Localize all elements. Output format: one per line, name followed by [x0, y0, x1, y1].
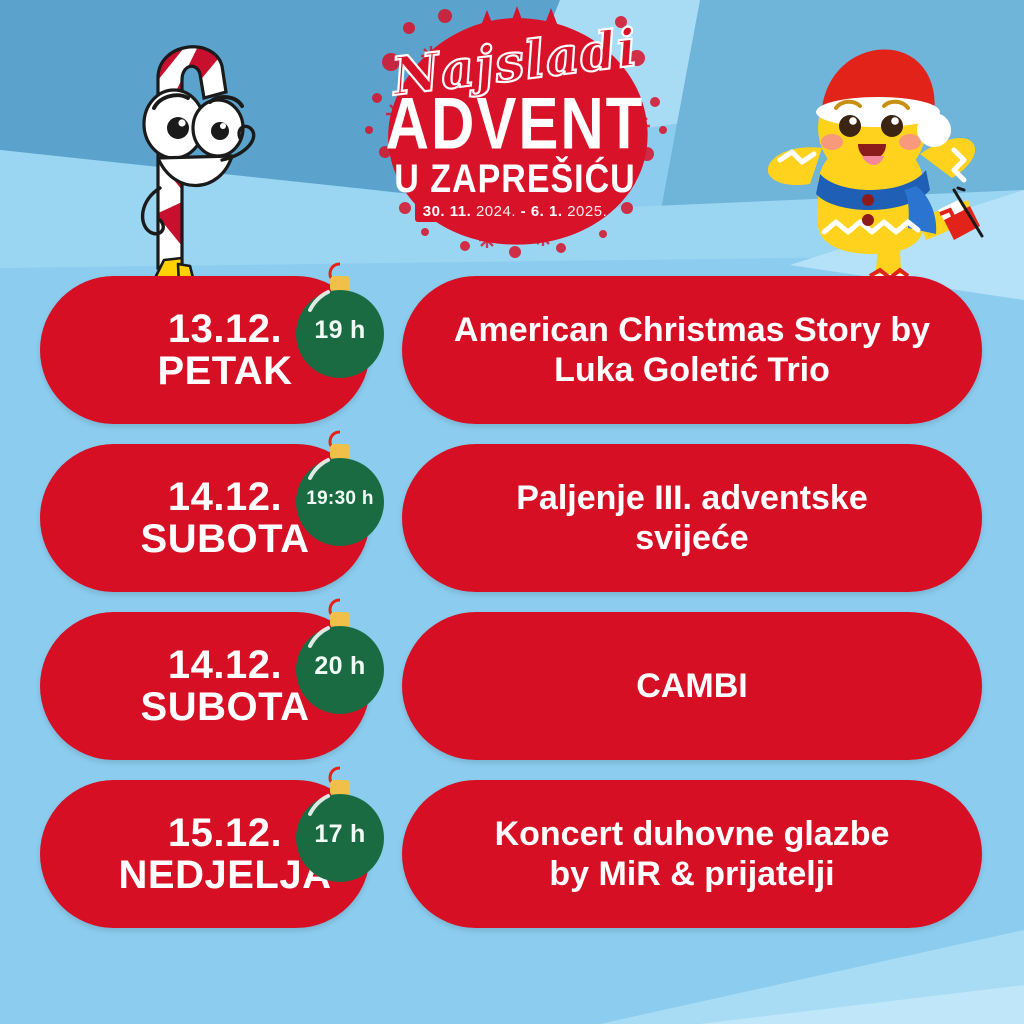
time-bauble[interactable]: 17 h [288, 762, 392, 886]
date-range-separator: - [521, 203, 527, 220]
date-range-start-year: 2024. [476, 203, 516, 220]
event-weekday: SUBOTA [141, 518, 310, 560]
schedule-row[interactable]: 13.12. PETAK 19 h American Christmas Sto… [0, 276, 1024, 444]
time-bauble[interactable]: 20 h [288, 594, 392, 718]
event-title-line2: by MiR & prijatelji [549, 855, 834, 893]
date-range-start-day: 30. 11. [423, 203, 472, 220]
event-date: 14.12. [141, 476, 310, 518]
schedule-row[interactable]: 14.12. SUBOTA 20 h CAMBI [0, 612, 1024, 780]
gingerbread-mascot [758, 38, 984, 315]
schedule-list: 13.12. PETAK 19 h American Christmas Sto… [0, 276, 1024, 948]
event-title-line2: svijeće [635, 519, 748, 557]
schedule-row[interactable]: 14.12. SUBOTA 19:30 h Paljenje III. adve… [0, 444, 1024, 612]
event-pill[interactable]: Koncert duhovne glazbe by MiR & prijatel… [402, 780, 982, 928]
logo-title: ADVENT [355, 87, 675, 160]
time-bauble[interactable]: 19:30 h [288, 426, 392, 550]
event-pill[interactable]: Paljenje III. adventske svijeće [402, 444, 982, 592]
logo-subtitle: U ZAPREŠIĆU [355, 159, 675, 199]
time-bauble[interactable]: 19 h [288, 258, 392, 382]
event-pill[interactable]: American Christmas Story by Luka Goletić… [402, 276, 982, 424]
event-pill[interactable]: CAMBI [402, 612, 982, 760]
event-title-line1: American Christmas Story by [454, 311, 930, 349]
event-title-line2: Luka Goletić Trio [554, 351, 830, 389]
event-title-line1: Koncert duhovne glazbe [495, 815, 890, 853]
schedule-row[interactable]: 15.12. NEDJELJA 17 h Koncert duhovne gla… [0, 780, 1024, 948]
logo-date-range: 30. 11. 2024. - 6. 1. 2025. [355, 203, 675, 220]
event-title-line1: CAMBI [636, 667, 747, 705]
event-weekday: PETAK [157, 350, 292, 392]
candy-cane-mascot [96, 18, 286, 315]
event-logo: Najsladi ADVENT U ZAPREŠIĆU 30. 11. 2024… [355, 2, 675, 264]
poster-canvas: Najsladi ADVENT U ZAPREŠIĆU 30. 11. 2024… [0, 0, 1024, 1024]
event-weekday: SUBOTA [141, 686, 310, 728]
date-range-end-year: 2025. [567, 203, 607, 220]
event-date: 13.12. [157, 308, 292, 350]
event-title-line1: Paljenje III. adventske [516, 479, 868, 517]
event-date: 14.12. [141, 644, 310, 686]
date-range-end-day: 6. 1. [531, 203, 563, 220]
